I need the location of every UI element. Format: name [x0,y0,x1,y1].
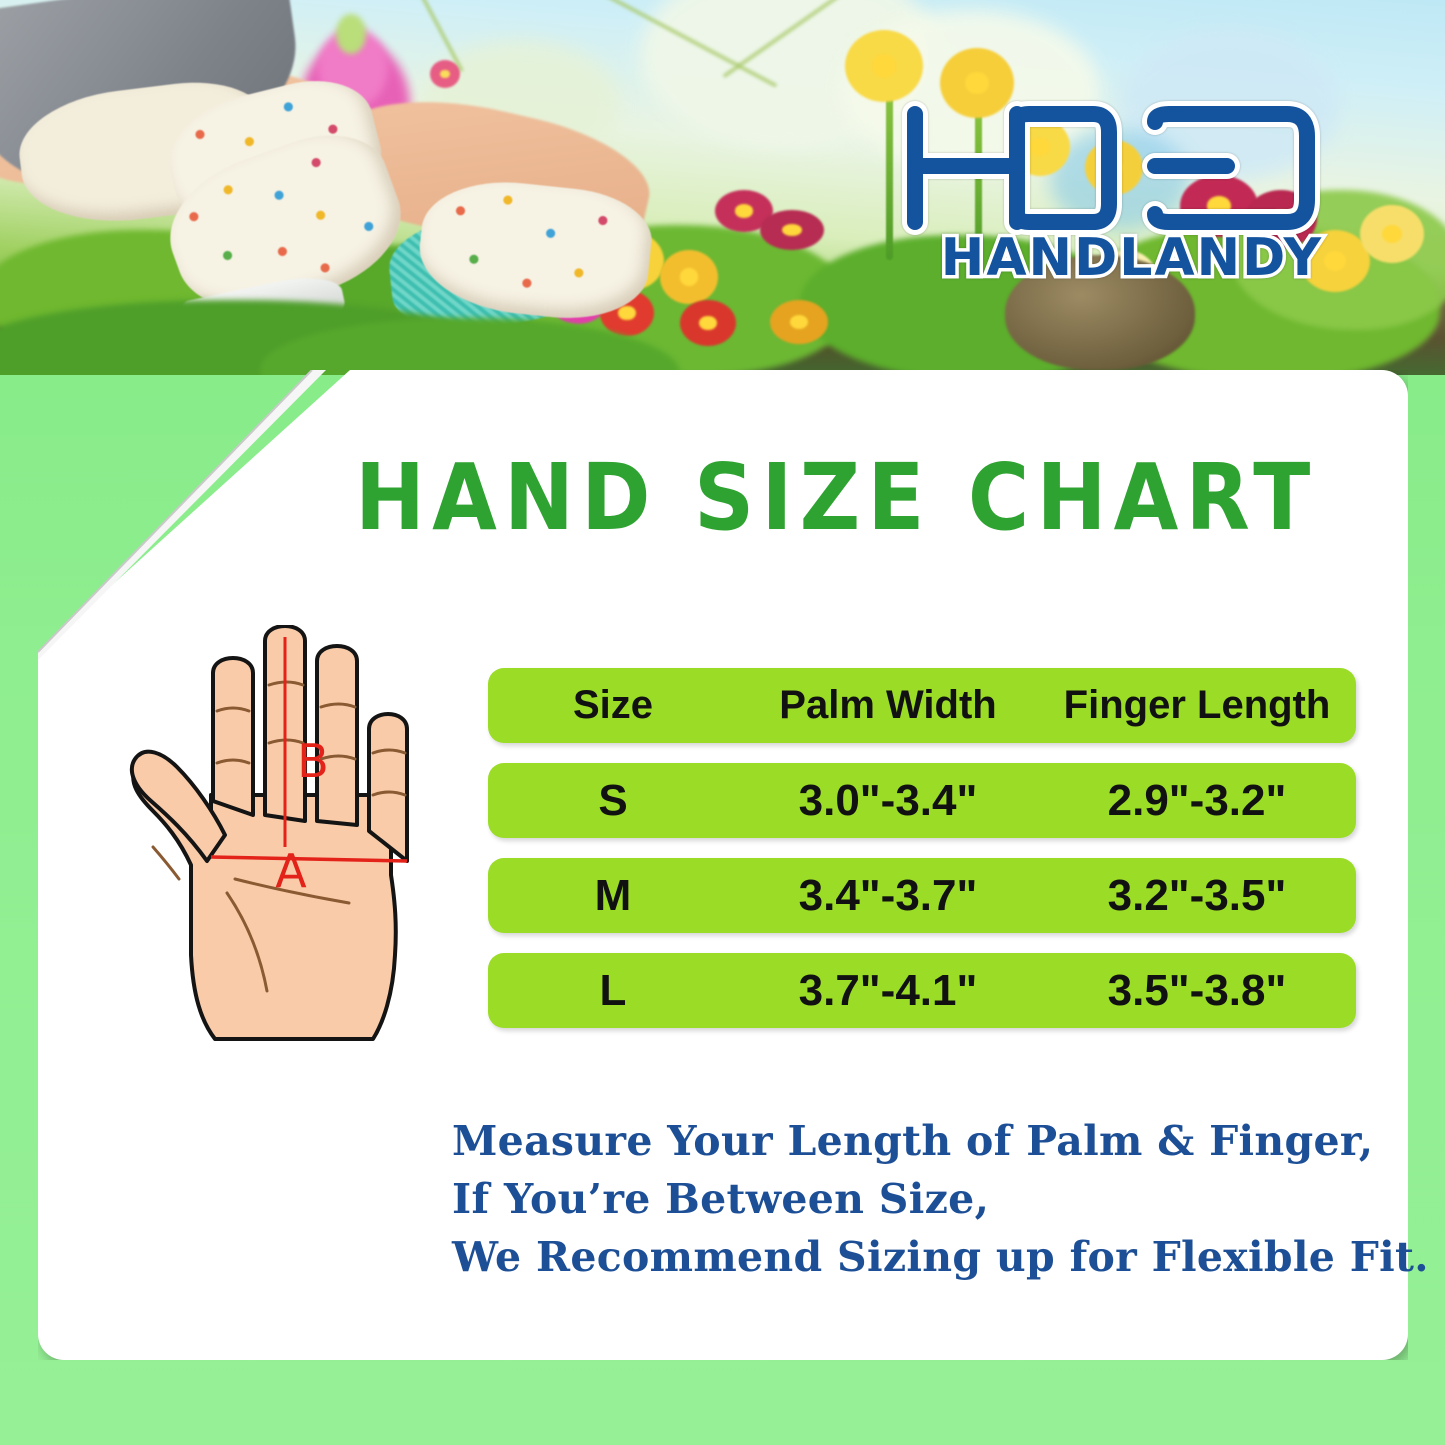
cell-finger-length: 3.5"-3.8" [1038,966,1356,1016]
cell-finger-length: 2.9"-3.2" [1038,776,1356,826]
label-b: B [297,734,329,788]
cell-finger-length: 3.2"-3.5" [1038,871,1356,921]
table-row[interactable]: M 3.4"-3.7" 3.2"-3.5" [488,858,1356,933]
note-line-2: If You’re Between Size, [452,1170,1429,1228]
note-line-1: Measure Your Length of Palm & Finger, [452,1112,1429,1170]
cell-size: M [488,871,738,921]
table-row[interactable]: S 3.0"-3.4" 2.9"-3.2" [488,763,1356,838]
hand-measurement-diagram: A B [95,625,495,1095]
page-title: HAND SIZE CHART [355,445,1317,551]
table-row[interactable]: L 3.7"-4.1" 3.5"-3.8" [488,953,1356,1028]
size-chart-page: HANDLANDY HAND SIZE CHART [0,0,1445,1445]
column-header-finger-length: Finger Length [1038,683,1356,728]
cell-size: S [488,776,738,826]
handlandy-logo: HANDLANDY [897,92,1367,282]
table-header-row: Size Palm Width Finger Length [488,668,1356,743]
sizing-note: Measure Your Length of Palm & Finger, If… [452,1112,1429,1287]
size-table: Size Palm Width Finger Length S 3.0"-3.4… [488,668,1356,1048]
logo-wordmark: HANDLANDY [941,228,1323,282]
cell-palm-width: 3.4"-3.7" [738,871,1038,921]
cell-palm-width: 3.0"-3.4" [738,776,1038,826]
column-header-size: Size [488,683,738,728]
note-line-3: We Recommend Sizing up for Flexible Fit. [452,1228,1429,1286]
cell-palm-width: 3.7"-4.1" [738,966,1038,1016]
cell-size: L [488,966,738,1016]
column-header-palm-width: Palm Width [738,683,1038,728]
label-a: A [275,844,307,898]
